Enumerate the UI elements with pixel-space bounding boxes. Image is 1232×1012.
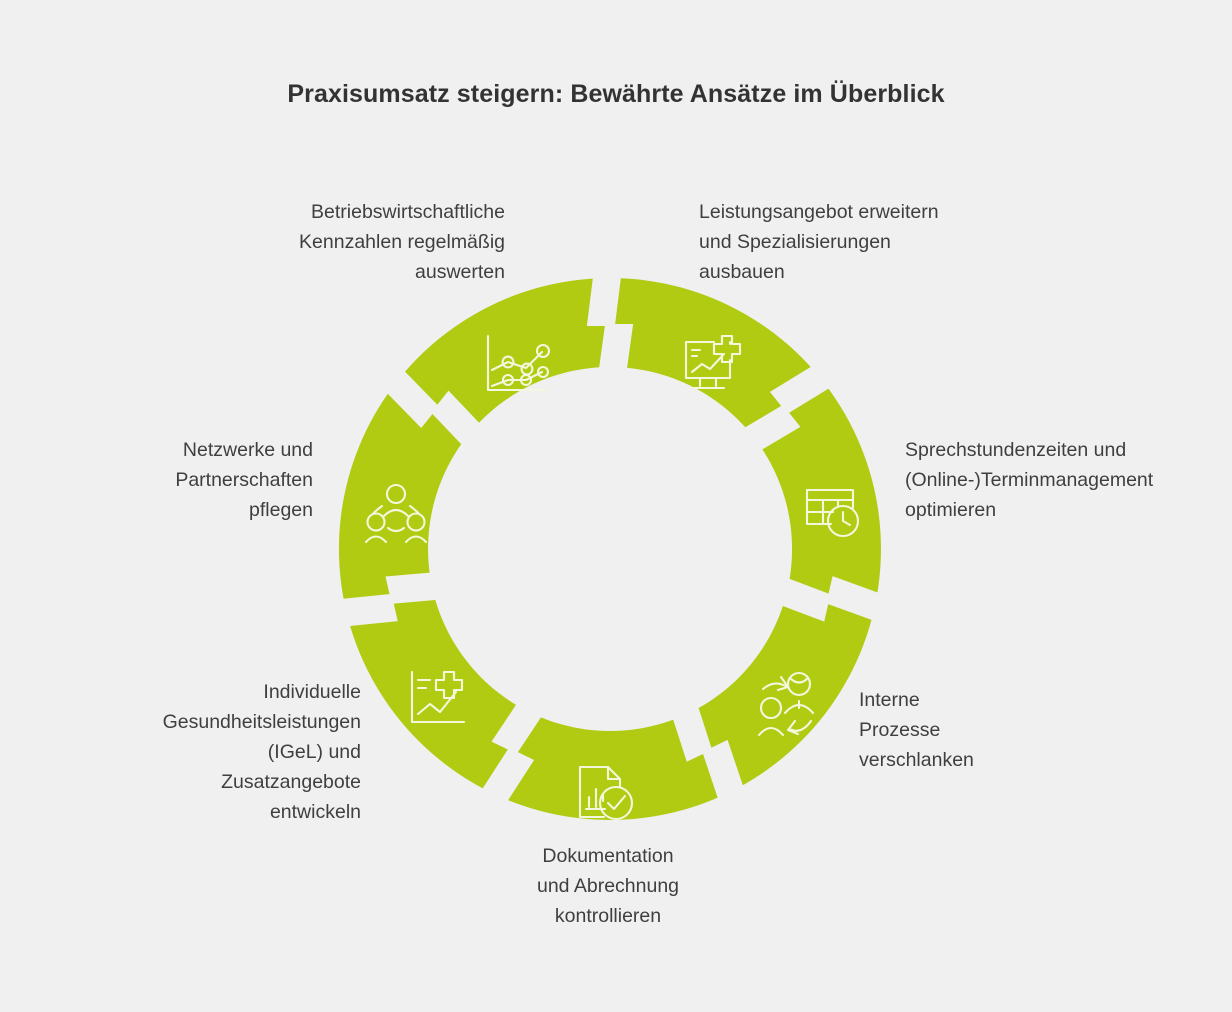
segment-label-dokumentation: Dokumentation und Abrechnung kontrollier… (458, 841, 758, 931)
segment-label-netzwerke: Netzwerke und Partnerschaften pflegen (13, 435, 313, 525)
segment-label-interne-prozesse: Interne Prozesse verschlanken (859, 685, 1119, 775)
segment-label-igel: Individuelle Gesundheitsleistungen (IGeL… (31, 677, 361, 827)
segment-label-leistungsangebot: Leistungsangebot erweitern und Spezialis… (699, 197, 1029, 287)
ring-band (339, 278, 881, 820)
segment-label-sprechstundenzeiten: Sprechstundenzeiten und (Online-)Terminm… (905, 435, 1205, 525)
infographic-canvas: Praxisumsatz steigern: Bewährte Ansätze … (0, 0, 1232, 1012)
segment-label-kennzahlen: Betriebswirtschaftliche Kennzahlen regel… (175, 197, 505, 287)
